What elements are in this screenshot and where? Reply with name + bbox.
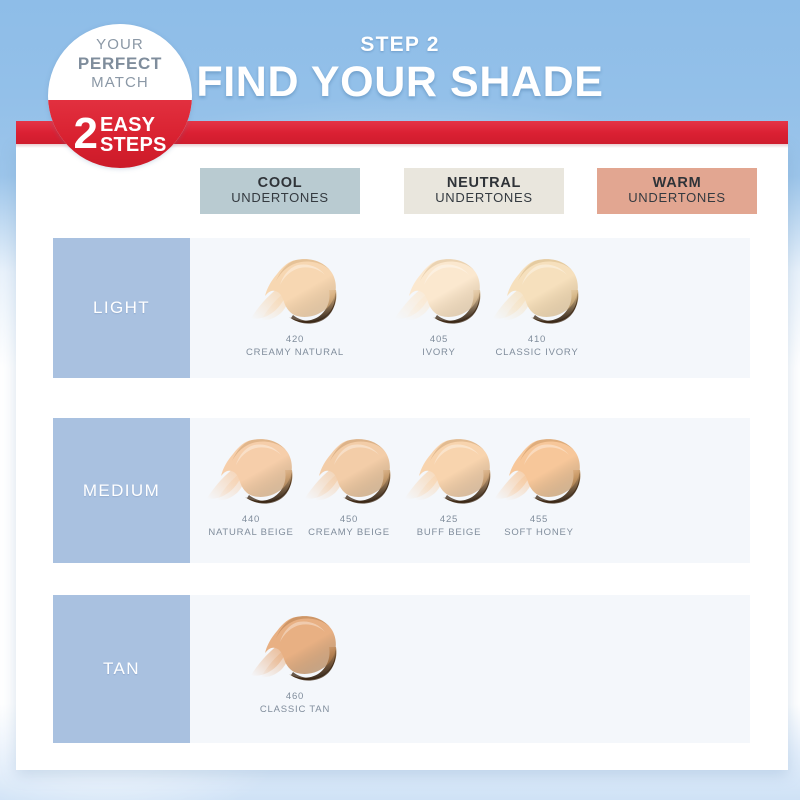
shade-finder-poster: STEP 2 FIND YOUR SHADE YOUR PERFECT MATC… xyxy=(0,0,800,800)
swatch-name: NATURAL BEIGE xyxy=(208,527,293,539)
swatch-name: CREAMY BEIGE xyxy=(308,527,390,539)
swatch-blob-svg xyxy=(485,432,593,514)
row-label-text: TAN xyxy=(103,659,140,679)
row-label-text: LIGHT xyxy=(93,298,150,318)
badge-top-text: YOUR PERFECT MATCH xyxy=(48,36,192,91)
badge-line-match: MATCH xyxy=(48,74,192,92)
undertone-header-cool: COOLUNDERTONES xyxy=(200,168,360,214)
shade-swatch-460[interactable]: 460CLASSIC TAN xyxy=(235,609,355,716)
badge-line-your: YOUR xyxy=(48,36,192,54)
swatch-code: 455 xyxy=(530,514,548,527)
swatch-blob-svg xyxy=(241,609,349,691)
badge-word-steps: STEPS xyxy=(100,135,167,155)
shade-row-medium: MEDIUM440NATURAL BEIGE450CREAMY BEIGE425… xyxy=(0,418,800,563)
undertone-header-neutral: NEUTRALUNDERTONES xyxy=(404,168,564,214)
row-label-tan: TAN xyxy=(53,595,190,743)
row-label-medium: MEDIUM xyxy=(53,418,190,563)
undertone-header-warm: WARMUNDERTONES xyxy=(597,168,757,214)
swatch-name: BUFF BEIGE xyxy=(417,527,481,539)
row-label-light: LIGHT xyxy=(53,238,190,378)
swatch-blob-svg xyxy=(241,252,349,334)
undertone-subtitle: UNDERTONES xyxy=(231,191,329,206)
undertone-subtitle: UNDERTONES xyxy=(435,191,533,206)
swatch-code: 440 xyxy=(242,514,260,527)
swatch-name: SOFT HONEY xyxy=(504,527,574,539)
shade-row-light: LIGHT420CREAMY NATURAL405IVORY410CLASSIC… xyxy=(0,238,800,378)
swatch-blob-svg xyxy=(295,432,403,514)
shade-swatch-420[interactable]: 420CREAMY NATURAL xyxy=(235,252,355,359)
perfect-match-badge: YOUR PERFECT MATCH 2 EASY STEPS xyxy=(48,24,192,168)
undertone-subtitle: UNDERTONES xyxy=(628,191,726,206)
swatch-blob xyxy=(295,432,403,514)
swatch-code: 410 xyxy=(528,334,546,347)
shade-swatch-455[interactable]: 455SOFT HONEY xyxy=(479,432,599,539)
swatch-name: IVORY xyxy=(422,347,455,359)
swatch-code: 405 xyxy=(430,334,448,347)
swatch-name: CREAMY NATURAL xyxy=(246,347,344,359)
shade-row-tan: TAN460CLASSIC TAN xyxy=(0,595,800,743)
row-label-text: MEDIUM xyxy=(83,481,160,501)
swatch-blob xyxy=(485,432,593,514)
undertone-title: NEUTRAL xyxy=(447,176,521,191)
swatch-code: 460 xyxy=(286,691,304,704)
badge-red-section: 2 EASY STEPS xyxy=(48,100,192,168)
swatch-blob xyxy=(241,252,349,334)
swatch-blob-svg xyxy=(483,252,591,334)
swatch-code: 450 xyxy=(340,514,358,527)
swatch-code: 420 xyxy=(286,334,304,347)
swatch-name: CLASSIC TAN xyxy=(260,704,330,716)
undertone-title: WARM xyxy=(653,176,702,191)
shade-swatch-410[interactable]: 410CLASSIC IVORY xyxy=(477,252,597,359)
undertone-title: COOL xyxy=(258,176,303,191)
badge-step-words: EASY STEPS xyxy=(100,115,167,155)
badge-line-perfect: PERFECT xyxy=(48,54,192,74)
swatch-code: 425 xyxy=(440,514,458,527)
badge-word-easy: EASY xyxy=(100,115,155,135)
badge-step-number: 2 xyxy=(73,115,96,152)
swatch-name: CLASSIC IVORY xyxy=(495,347,578,359)
undertone-header-row: COOLUNDERTONESNEUTRALUNDERTONESWARMUNDER… xyxy=(16,168,788,214)
swatch-blob xyxy=(241,609,349,691)
swatch-blob xyxy=(483,252,591,334)
